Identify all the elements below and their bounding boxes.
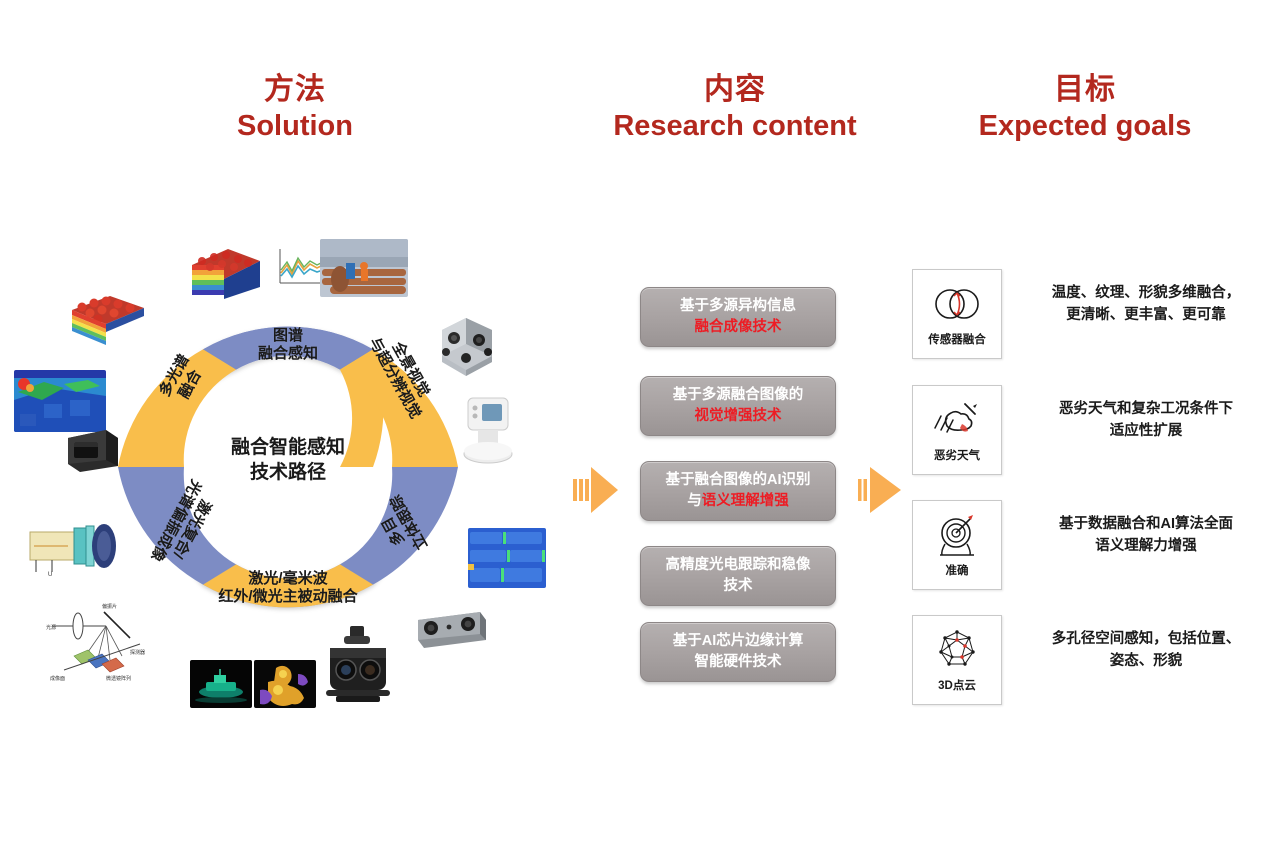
svg-text:U: U bbox=[48, 572, 52, 578]
research-box-3-line2-prefix: 与 bbox=[687, 493, 702, 509]
industrial-pipeline-photo-thumbnail bbox=[320, 239, 408, 297]
goal-card-bad-weather[interactable]: 恶劣天气 bbox=[912, 385, 1002, 475]
svg-text:探测器: 探测器 bbox=[130, 649, 145, 656]
goal-card-2-caption: 恶劣天气 bbox=[934, 450, 980, 463]
goal-card-accuracy[interactable]: 准确 bbox=[912, 500, 1002, 590]
goal-text-2-line2: 适应性扩展 bbox=[1110, 423, 1183, 439]
column-header-solution-cn: 方法 bbox=[145, 72, 445, 107]
thermal-boat-image-thumbnail bbox=[190, 660, 252, 708]
research-box-1-line1: 基于多源异构信息 bbox=[680, 298, 796, 314]
goal-card-point-cloud[interactable]: 3D点云 bbox=[912, 615, 1002, 705]
goal-text-3: 基于数据融合和AI算法全面 语义理解力增强 bbox=[1030, 514, 1262, 558]
wheel-label-bottom-line2: 红外/微光主被动融合 bbox=[218, 588, 357, 605]
wheel-label-bottom: 激光/毫米波 红外/微光主被动融合 bbox=[178, 570, 398, 607]
diagram-canvas: 方法 Solution 内容 Research content 目标 Expec… bbox=[0, 0, 1268, 866]
svg-text:成像面: 成像面 bbox=[50, 675, 65, 682]
goal-card-4-caption: 3D点云 bbox=[938, 680, 976, 693]
research-box-3-line1: 基于融合图像的AI识别 bbox=[666, 472, 811, 488]
column-header-solution: 方法 Solution bbox=[145, 72, 445, 144]
goal-text-3-line2: 语义理解力增强 bbox=[1095, 538, 1197, 554]
arrow-solution-to-content bbox=[570, 459, 632, 521]
wheel-center-line1: 融合智能感知 bbox=[231, 437, 345, 458]
goal-row-4: 3D点云 多孔径空间感知，包括位置、 姿态、形貌 bbox=[912, 615, 1262, 711]
research-box-2[interactable]: 基于多源融合图像的 视觉增强技术 bbox=[640, 376, 836, 436]
research-box-2-highlight: 视觉增强技术 bbox=[695, 408, 782, 424]
goal-text-4: 多孔径空间感知，包括位置、 姿态、形貌 bbox=[1030, 629, 1262, 673]
point-cloud-icon bbox=[929, 626, 985, 676]
goal-row-3: 准确 基于数据融合和AI算法全面 语义理解力增强 bbox=[912, 500, 1262, 596]
goal-card-1-caption: 传感器融合 bbox=[928, 334, 986, 347]
goal-text-1: 温度、纹理、形貌多维融合， 更清晰、更丰富、更可靠 bbox=[1030, 283, 1262, 327]
goal-text-2-line1: 恶劣天气和复杂工况条件下 bbox=[1059, 401, 1233, 417]
svg-text:光源: 光源 bbox=[46, 624, 56, 631]
wheel-center-label: 融合智能感知 技术路径 bbox=[173, 435, 403, 485]
research-box-1[interactable]: 基于多源异构信息 融合成像技术 bbox=[640, 287, 836, 347]
research-box-1-highlight: 融合成像技术 bbox=[695, 319, 782, 335]
goal-text-1-line1: 温度、纹理、形貌多维融合， bbox=[1052, 285, 1241, 301]
goal-text-3-line1: 基于数据融合和AI算法全面 bbox=[1059, 516, 1233, 532]
goal-text-4-line2: 姿态、形貌 bbox=[1110, 653, 1183, 669]
thermal-infrared-scene-thumbnail bbox=[14, 370, 106, 432]
column-header-solution-en: Solution bbox=[145, 109, 445, 143]
column-header-goals: 目标 Expected goals bbox=[905, 72, 1265, 144]
scanner-device-thumbnail bbox=[460, 394, 516, 466]
goal-text-4-line1: 多孔径空间感知，包括位置、 bbox=[1052, 631, 1241, 647]
wheel-center-line2: 技术路径 bbox=[250, 462, 326, 483]
research-box-4-line2: 技术 bbox=[724, 578, 753, 594]
research-box-5[interactable]: 基于AI芯片边缘计算 智能硬件技术 bbox=[640, 622, 836, 682]
research-box-3-highlight: 语义理解增强 bbox=[702, 493, 789, 509]
column-header-goals-cn: 目标 bbox=[905, 72, 1265, 107]
research-box-2-line1: 基于多源融合图像的 bbox=[673, 387, 804, 403]
goal-row-2: 恶劣天气 恶劣天气和复杂工况条件下 适应性扩展 bbox=[912, 385, 1262, 481]
thermal-person-image-thumbnail bbox=[254, 660, 316, 708]
wheel-label-bottom-line1: 激光/毫米波 bbox=[248, 570, 327, 587]
research-box-3[interactable]: 基于融合图像的AI识别 与语义理解增强 bbox=[640, 461, 836, 521]
optical-module-thumbnail: U bbox=[28, 516, 124, 578]
research-box-4-line1: 高精度光电跟踪和稳像 bbox=[666, 557, 811, 573]
research-box-4[interactable]: 高精度光电跟踪和稳像 技术 bbox=[640, 546, 836, 606]
wheel-label-top-line2: 融合感知 bbox=[258, 345, 318, 362]
column-header-goals-en: Expected goals bbox=[905, 109, 1265, 143]
bad-weather-icon bbox=[929, 396, 985, 446]
arrow-content-to-goals bbox=[855, 459, 917, 521]
goal-text-1-line2: 更清晰、更丰富、更可靠 bbox=[1066, 307, 1226, 323]
research-box-5-line2: 智能硬件技术 bbox=[695, 654, 782, 670]
sensor-fusion-icon bbox=[929, 280, 985, 330]
goal-row-1: 传感器融合 温度、纹理、形貌多维融合， 更清晰、更丰富、更可靠 bbox=[912, 269, 1262, 365]
research-box-5-line1: 基于AI芯片边缘计算 bbox=[673, 633, 804, 649]
goal-text-2: 恶劣天气和复杂工况条件下 适应性扩展 bbox=[1030, 399, 1262, 443]
wheel-label-top: 图谱 融合感知 bbox=[210, 327, 366, 364]
goal-card-3-caption: 准确 bbox=[946, 565, 969, 578]
technology-roadmap-wheel: 图谱 融合感知 全景视觉 与超分辨视觉 多目 立体跟踪 激光/毫米波 红外/微光… bbox=[113, 292, 463, 642]
target-accuracy-icon bbox=[929, 511, 985, 561]
wheel-label-top-line1: 图谱 bbox=[273, 327, 303, 344]
goal-card-sensor-fusion[interactable]: 传感器融合 bbox=[912, 269, 1002, 359]
stereo-depth-map-thumbnail bbox=[468, 528, 546, 588]
svg-text:微透镜阵列: 微透镜阵列 bbox=[106, 675, 131, 682]
